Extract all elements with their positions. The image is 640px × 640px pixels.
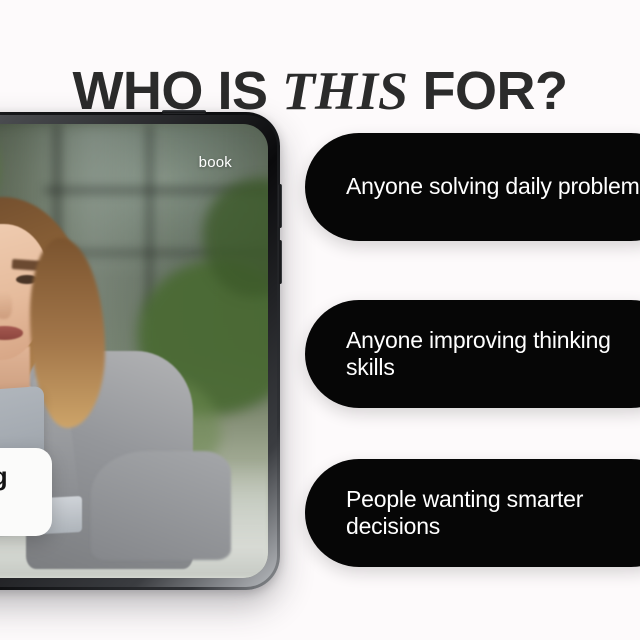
tablet-volume-down-button[interactable]: [278, 240, 282, 284]
course-title-line2: Mastery: [0, 491, 36, 520]
audience-pill-3[interactable]: People wanting smarter decisions: [305, 459, 640, 567]
audience-pill-2-label: Anyone improving thinking skills: [346, 327, 640, 381]
audience-pill-1-label: Anyone solving daily problems: [346, 173, 640, 200]
page-title: WHO IS THIS FOR?: [0, 64, 640, 118]
tablet-volume-up-button[interactable]: [278, 184, 282, 228]
page-title-part2: FOR?: [423, 61, 568, 121]
tablet-rim: book Problem-Solving Mastery: [0, 115, 277, 587]
person-arm: [91, 451, 231, 560]
book-watermark: book: [199, 154, 232, 171]
tablet-power-button[interactable]: [162, 110, 206, 114]
course-title-line1: Problem-Solving: [0, 462, 36, 491]
tablet-body: book Problem-Solving Mastery: [0, 112, 280, 590]
tablet-screen: book Problem-Solving Mastery: [0, 124, 268, 578]
audience-pill-3-label: People wanting smarter decisions: [346, 486, 640, 540]
course-title-card: Problem-Solving Mastery: [0, 448, 52, 536]
audience-pill-2[interactable]: Anyone improving thinking skills: [305, 300, 640, 408]
tablet-device: book Problem-Solving Mastery: [0, 112, 280, 590]
page-title-emphasis: THIS: [282, 61, 408, 121]
person-nose: [0, 292, 12, 319]
slide-canvas: WHO IS THIS FOR?: [0, 0, 640, 640]
audience-pill-1[interactable]: Anyone solving daily problems: [305, 133, 640, 241]
